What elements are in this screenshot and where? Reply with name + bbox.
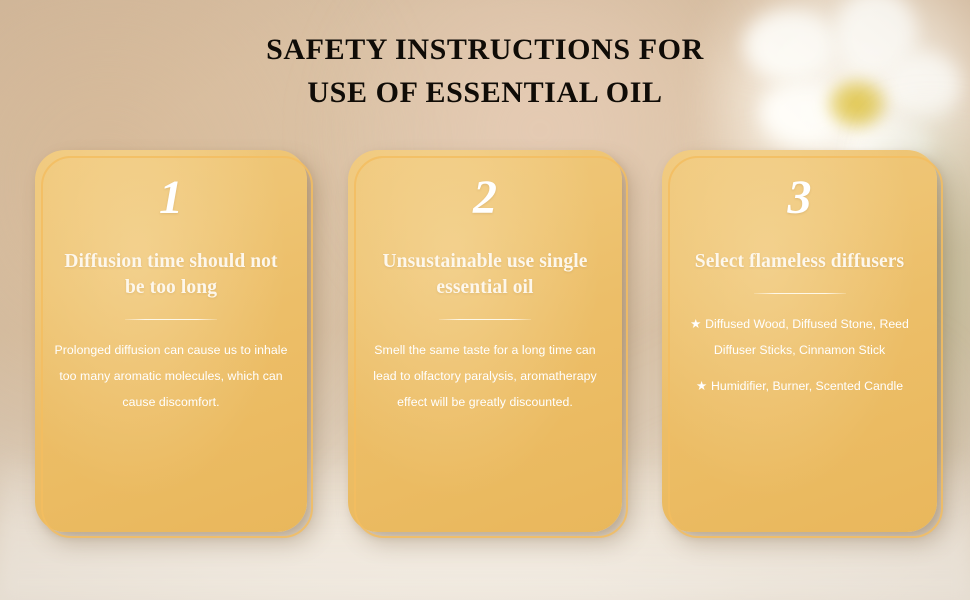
card-number-3: 3 <box>680 174 919 222</box>
card-body-1: Prolonged diffusion can cause us to inha… <box>53 337 289 415</box>
list-item-label: Diffused Wood, Diffused Stone, Reed Diff… <box>705 317 909 357</box>
instruction-card-3: 3 Select flameless diffusers ★Diffused W… <box>662 150 937 532</box>
page-title: SAFETY INSTRUCTIONS FOR USE OF ESSENTIAL… <box>0 28 970 114</box>
page-title-line-2: USE OF ESSENTIAL OIL <box>0 71 970 114</box>
card-heading-1: Diffusion time should not be too long <box>53 249 289 301</box>
page-title-line-1: SAFETY INSTRUCTIONS FOR <box>0 28 970 71</box>
card-number-2: 2 <box>366 174 604 222</box>
card-divider-3 <box>754 293 846 294</box>
star-icon: ★ <box>690 317 701 331</box>
card-body-2: Smell the same taste for a long time can… <box>366 337 604 415</box>
card-divider-2 <box>439 319 531 320</box>
card-bullet-list-3: ★Diffused Wood, Diffused Stone, Reed Dif… <box>680 311 919 399</box>
instruction-card-2: 2 Unsustainable use single essential oil… <box>348 150 622 532</box>
list-item: ★Humidifier, Burner, Scented Candle <box>680 373 919 399</box>
list-item: ★Diffused Wood, Diffused Stone, Reed Dif… <box>680 311 919 363</box>
list-item-label: Humidifier, Burner, Scented Candle <box>711 379 903 393</box>
card-heading-2: Unsustainable use single essential oil <box>366 249 604 301</box>
card-heading-3: Select flameless diffusers <box>680 249 919 275</box>
star-icon: ★ <box>696 379 707 393</box>
instruction-card-1: 1 Diffusion time should not be too long … <box>35 150 307 532</box>
card-divider-1 <box>125 319 217 320</box>
card-number-1: 1 <box>53 174 289 222</box>
